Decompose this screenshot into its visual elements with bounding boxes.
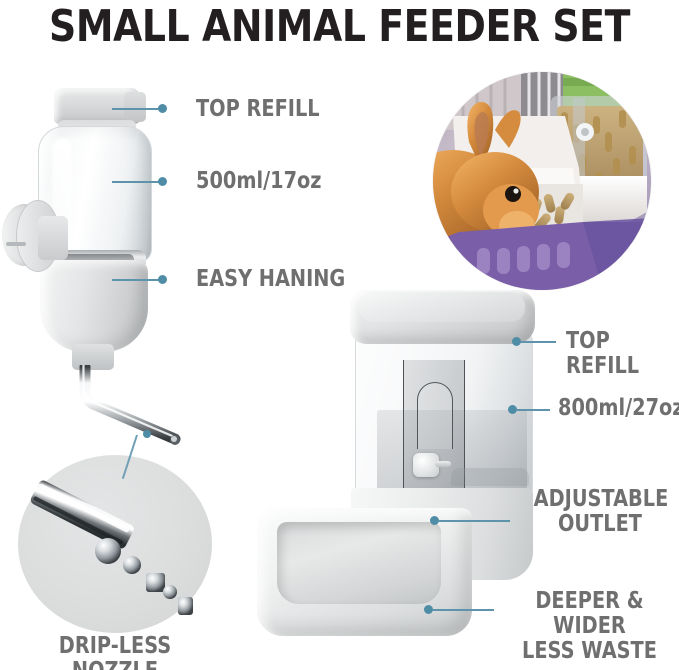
rabbit-photo-illustration [433,72,651,290]
page-title: SMALL ANIMAL FEEDER SET [48,2,632,52]
food-feeder-product [255,290,530,640]
infographic-canvas: SMALL ANIMAL FEEDER SET [0,0,679,670]
leader-dot-bottle-top-refill [158,104,167,113]
bottle-cap-tab [124,92,146,122]
adjustment-knob-stem [435,461,451,467]
callout-label-bottle-top-refill: TOP REFILL [196,97,320,122]
outlet-gate-arch [417,382,453,449]
rabbit-feeding-photo [433,72,651,290]
clip-arm [38,216,68,260]
callout-label-drip-less-nozzle: DRIP-LESS NOZZLE [18,634,211,670]
leader-line-bottle-hanging [112,279,162,281]
hanging-clip-bracket [2,198,68,276]
water-bottle-product [8,78,188,378]
leader-line-bottle-capacity [112,181,162,183]
callout-label-adjustable-outlet: ADJUSTABLE OUTLET [534,487,667,537]
leader-line-adjustable-outlet [438,520,510,522]
leader-dot-nozzle-detail [143,430,151,438]
water-bead [163,585,177,599]
feeder-fill-line [451,468,529,486]
leader-line-feeder-capacity [516,409,550,411]
callout-label-bottle-hanging: EASY HANING [196,267,345,292]
leader-line-bottle-top-refill [112,108,162,110]
callout-label-deeper-wider: DEEPER & WIDER LESS WASTE [514,589,664,664]
water-bead [95,538,121,564]
clip-slot [6,242,26,246]
water-bead [178,597,193,615]
water-bead [146,573,165,592]
feeder-bowl-inner [277,522,441,604]
leader-line-deeper-wider [432,609,494,611]
leader-dot-bottle-capacity [158,177,167,186]
nozzle-detail-drawing [18,455,212,633]
callout-label-feeder-capacity: 800ml/27oz [558,396,679,421]
water-bead [123,556,141,574]
leader-dot-bottle-hanging [158,275,167,284]
nozzle-detail-inset [18,455,212,633]
callout-label-feeder-top-refill: TOP REFILL [566,329,661,379]
leader-line-feeder-top-refill [520,341,556,343]
callout-label-bottle-capacity: 500ml/17oz [196,169,322,194]
feeder-lid-top [359,292,525,322]
